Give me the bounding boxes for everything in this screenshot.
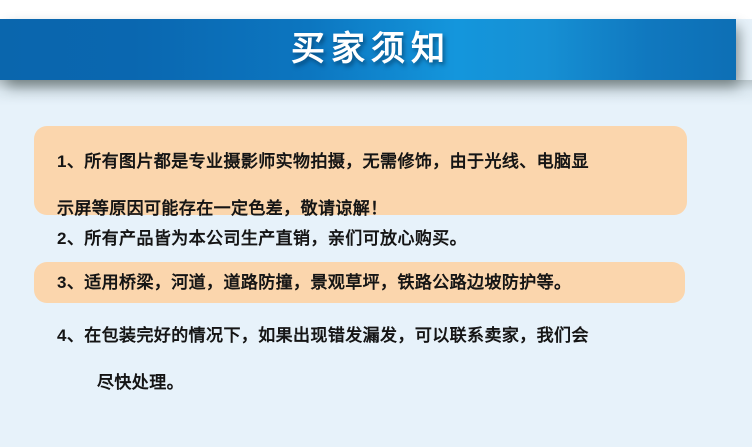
notice-item-2: 2、所有产品皆为本公司生产直销，亲们可放心购买。 <box>0 208 752 254</box>
header-banner: 买家须知 <box>0 19 752 81</box>
notice-item-3: 3、适用桥梁，河道，道路防撞，景观草坪，铁路公路边坡防护等。 <box>0 254 752 306</box>
page-title: 买家须知 <box>0 19 736 80</box>
notice-list: 1、所有图片都是专业摄影师实物拍摄，无需修饰，由于光线、电脑显 示屏等原因可能存… <box>0 112 752 406</box>
notice-text-4-line-1: 4、在包装完好的情况下，如果出现错发漏发，可以联系卖家，我们会 <box>57 326 589 345</box>
notice-item-4: 4、在包装完好的情况下，如果出现错发漏发，可以联系卖家，我们会尽快处理。 <box>0 306 752 406</box>
notice-item-1: 1、所有图片都是专业摄影师实物拍摄，无需修饰，由于光线、电脑显 示屏等原因可能存… <box>0 112 752 208</box>
notice-text-4: 4、在包装完好的情况下，如果出现错发漏发，可以联系卖家，我们会尽快处理。 <box>34 306 752 406</box>
top-white-strip <box>0 0 752 19</box>
notice-text-3: 3、适用桥梁，河道，道路防撞，景观草坪，铁路公路边坡防护等。 <box>34 254 752 303</box>
buyer-notice-page: 买家须知 1、所有图片都是专业摄影师实物拍摄，无需修饰，由于光线、电脑显 示屏等… <box>0 0 752 447</box>
notice-text-4-line-2: 尽快处理。 <box>57 359 752 406</box>
